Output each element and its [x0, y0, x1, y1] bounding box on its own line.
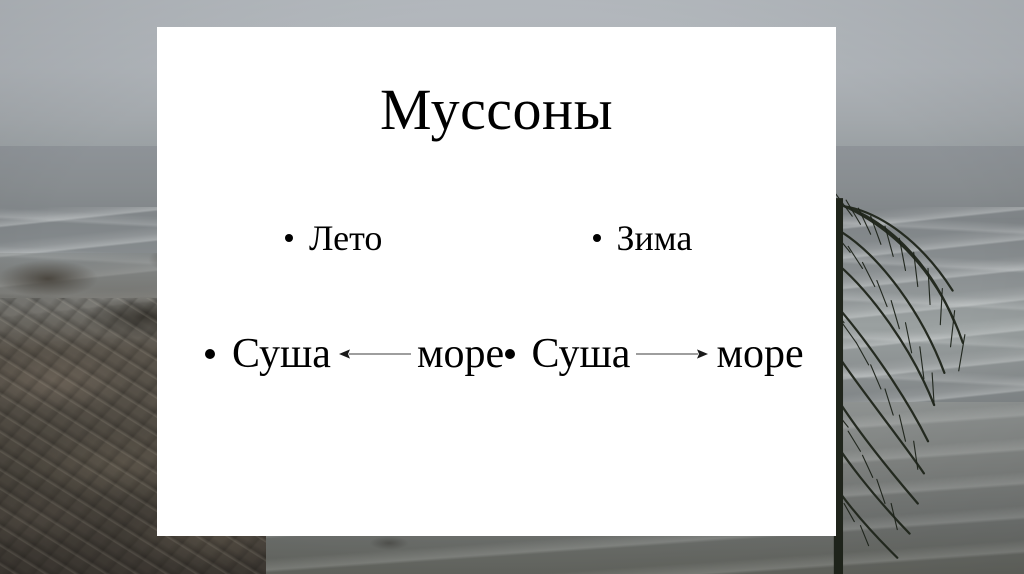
list-item-label: Лето	[309, 220, 382, 256]
list-item-summer-flow[interactable]: Суша море	[157, 333, 497, 375]
list-item-summer[interactable]: Лето	[157, 220, 497, 256]
seasons-row: Лето Зима	[157, 220, 836, 256]
flow-source-label: Суша	[532, 333, 631, 375]
bullet-dot-icon	[593, 234, 601, 242]
bullet-dot-icon	[205, 349, 215, 359]
arrow-right-icon	[636, 346, 710, 362]
page-title: Муссоны	[157, 81, 836, 139]
presentation-slide: Муссоны Лето Зима Суша море	[0, 0, 1024, 574]
flow-target-label: море	[417, 333, 504, 375]
flow-target-label: море	[716, 333, 803, 375]
bullet-dot-icon	[505, 349, 515, 359]
air-flow-row: Суша море Суша море	[157, 333, 836, 375]
bullet-dot-icon	[285, 234, 293, 242]
list-item-winter[interactable]: Зима	[497, 220, 837, 256]
list-item-label: Зима	[617, 220, 693, 256]
flow-source-label: Суша	[232, 333, 331, 375]
list-item-winter-flow[interactable]: Суша море	[497, 333, 837, 375]
content-card: Муссоны Лето Зима Суша море	[157, 27, 836, 536]
arrow-left-icon	[337, 346, 411, 362]
